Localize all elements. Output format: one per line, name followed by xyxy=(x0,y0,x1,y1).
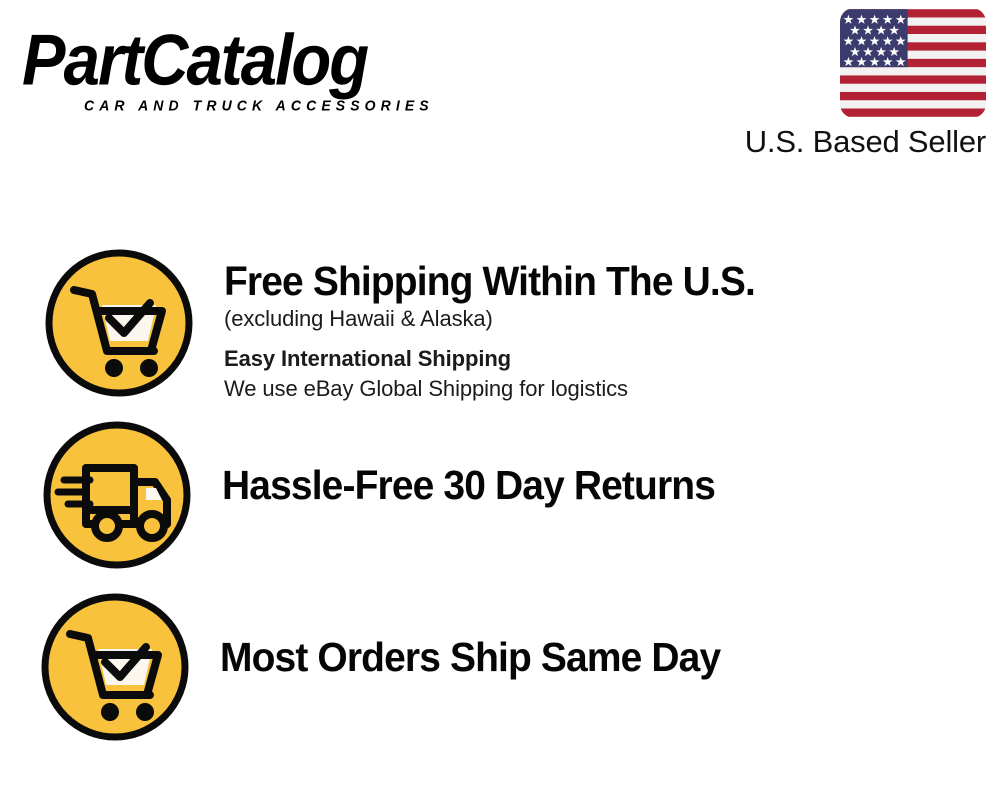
brand-wordmark: PartCatalog xyxy=(22,22,473,98)
shopping-cart-check-icon xyxy=(40,592,190,742)
delivery-truck-icon xyxy=(42,420,192,570)
shopping-cart-check-icon xyxy=(44,248,194,398)
feature-free-shipping: Free Shipping Within The U.S. (excluding… xyxy=(44,248,783,404)
feature-subtitle-exclusions: (excluding Hawaii & Alaska) xyxy=(224,304,783,334)
feature-returns-text: Hassle-Free 30 Day Returns xyxy=(192,420,741,508)
feature-subtitle-logistics: We use eBay Global Shipping for logistic… xyxy=(224,374,783,404)
feature-subtitle-international: Easy International Shipping xyxy=(224,344,783,374)
feature-title: Free Shipping Within The U.S. xyxy=(224,258,755,304)
feature-returns: Hassle-Free 30 Day Returns xyxy=(42,420,741,570)
spacer xyxy=(224,334,783,344)
us-flag-icon xyxy=(840,8,986,118)
feature-free-shipping-text: Free Shipping Within The U.S. (excluding… xyxy=(194,248,783,404)
feature-title: Most Orders Ship Same Day xyxy=(220,634,720,680)
feature-title: Hassle-Free 30 Day Returns xyxy=(222,462,715,508)
promo-banner: PartCatalog CAR AND TRUCK ACCESSORIES xyxy=(0,0,1000,800)
seller-label: U.S. Based Seller xyxy=(721,124,986,160)
brand-logo: PartCatalog CAR AND TRUCK ACCESSORIES xyxy=(22,22,492,118)
feature-same-day-text: Most Orders Ship Same Day xyxy=(190,592,747,680)
feature-same-day-shipping: Most Orders Ship Same Day xyxy=(40,592,747,742)
brand-tagline: CAR AND TRUCK ACCESSORIES xyxy=(84,97,434,114)
us-based-seller-badge: U.S. Based Seller xyxy=(721,8,986,160)
